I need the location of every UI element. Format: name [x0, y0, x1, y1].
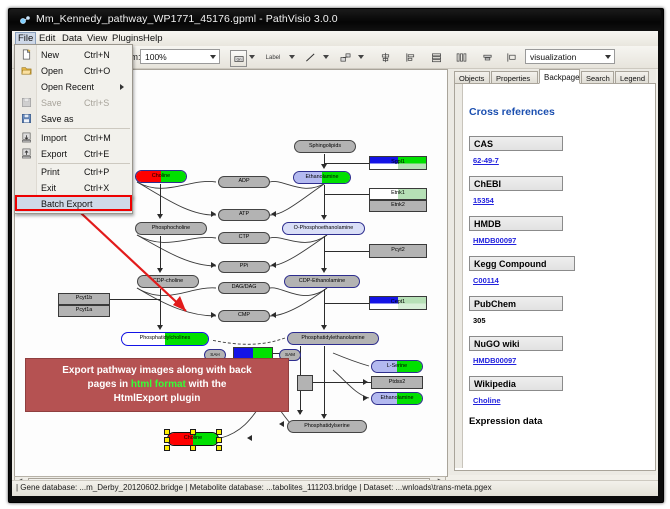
file-menu-save-label: Save	[41, 98, 62, 108]
arrowhead-left	[271, 211, 276, 217]
stack-button[interactable]	[480, 50, 495, 65]
node-o-phosphoethanolamine[interactable]: O-Phosphoethanolamine	[282, 222, 365, 235]
selection-handle-sw[interactable]	[164, 445, 170, 451]
align-center-icon	[380, 52, 391, 63]
edge-cdpetn-pethan	[324, 289, 325, 327]
status-bar: | Gene database: ...m_Derby_20120602.bri…	[12, 480, 658, 496]
arrowhead-down	[321, 215, 327, 220]
file-menu-export-label: Export	[41, 149, 67, 159]
node-cdp-ethanolamine[interactable]: CDP-Ethanolamine	[284, 275, 360, 288]
file-menu-new-accel: Ctrl+N	[84, 50, 110, 60]
arrowhead-right	[363, 379, 368, 385]
new-document-icon	[20, 49, 32, 61]
annotation-line1: Export pathway images along with back	[62, 365, 252, 376]
selection-handle-ne[interactable]	[216, 429, 222, 435]
svg-text:Gn: Gn	[236, 57, 241, 61]
chevron-down-icon	[210, 55, 216, 59]
node-pcyt2[interactable]: Pcyt2	[369, 244, 427, 258]
node-cept1[interactable]: Cept1	[369, 296, 427, 310]
arrowhead-left	[271, 312, 276, 318]
node-dag[interactable]: DAG/DAG	[218, 282, 270, 294]
selection-handle-w[interactable]	[164, 437, 170, 443]
file-menu-exit-label: Exit	[41, 183, 56, 193]
xref-value-cas[interactable]: 62-49-7	[473, 156, 499, 165]
selection-handle-e[interactable]	[216, 437, 222, 443]
backpage-content: Cross references CAS 62-49-7 ChEBI 15354…	[454, 83, 656, 471]
edge-etn-pe	[324, 185, 325, 218]
xref-value-hmdb[interactable]: HMDB00097	[473, 236, 516, 245]
file-menu-open-accel: Ctrl+O	[84, 66, 110, 76]
node-l-serine[interactable]: L-Serine	[371, 360, 423, 373]
annotation-text: Export pathway images along with back pa…	[56, 364, 258, 406]
arrowhead-down	[321, 325, 327, 330]
zoom-value: 100%	[145, 52, 167, 62]
arrowhead-right	[211, 262, 216, 268]
file-menu-import-accel: Ctrl+M	[84, 133, 111, 143]
menu-help[interactable]: Help	[140, 33, 166, 45]
file-menu-export-accel: Ctrl+E	[84, 149, 109, 159]
node-choline-top[interactable]: Choline	[135, 170, 187, 183]
annotation-line2c: with the	[186, 379, 227, 390]
datanode-tool-button[interactable]: Gn	[230, 50, 247, 67]
node-ctp[interactable]: CTP	[218, 232, 270, 244]
distribute-icon	[456, 52, 467, 63]
arrowhead-down	[321, 164, 327, 169]
label-tool-button[interactable]: Label	[260, 50, 286, 65]
file-menu-dropdown[interactable]: New Ctrl+N Open Ctrl+O Open Recent Save	[14, 44, 133, 198]
node-sphingolipids[interactable]: Sphingolipids	[294, 140, 356, 153]
line-icon	[305, 52, 316, 63]
pathvisio-icon	[19, 14, 31, 26]
batch-export-highlight-box	[15, 195, 132, 211]
file-menu-print[interactable]: Print Ctrl+P	[16, 164, 131, 180]
arrowhead-right	[211, 312, 216, 318]
arrowhead-down	[321, 268, 327, 273]
arrowhead-down	[297, 410, 303, 415]
align-left-button[interactable]	[403, 50, 418, 65]
file-menu-print-accel: Ctrl+P	[84, 167, 109, 177]
size-icon	[506, 52, 517, 63]
visualization-combo[interactable]: visualization	[525, 49, 615, 64]
stack-icon	[482, 52, 493, 63]
file-menu-open-label: Open	[41, 66, 63, 76]
title-bar: Mm_Kennedy_pathway_WP1771_45176.gpml - P…	[9, 9, 661, 31]
node-unnamed-enzyme[interactable]	[297, 375, 313, 391]
file-menu-open-recent[interactable]: Open Recent	[16, 79, 131, 95]
node-ppi[interactable]: PPi	[218, 261, 270, 273]
annotation-line3: HtmlExport plugin	[114, 393, 201, 404]
xref-header-cas: CAS	[469, 136, 563, 151]
node-etnk1[interactable]: Etnk1	[369, 188, 427, 200]
file-menu-export[interactable]: Export Ctrl+E	[16, 146, 131, 162]
edge-pe-cdpetn	[324, 236, 325, 270]
align-center-button[interactable]	[378, 50, 393, 65]
node-ptdss2[interactable]: Ptdss2	[371, 376, 423, 389]
file-menu-new-label: New	[41, 50, 59, 60]
xref-header-nugo: NuGO wiki	[469, 336, 563, 351]
file-menu-batch-export-container[interactable]: Batch Export	[14, 195, 133, 214]
genenode-icon: Gn	[234, 54, 244, 64]
file-menu-import-label: Import	[41, 133, 67, 143]
selection-handle-n[interactable]	[190, 429, 196, 435]
panel-tabstrip: Objects Properties Backpage Search Legen…	[454, 69, 656, 84]
file-menu-print-label: Print	[41, 167, 60, 177]
file-menu-open-recent-label: Open Recent	[41, 82, 94, 92]
arrowhead-right	[211, 211, 216, 217]
node-phosphatidylserine[interactable]: Phosphatidylserine	[287, 420, 367, 433]
submenu-arrow-icon	[120, 84, 124, 90]
import-icon	[20, 132, 32, 144]
edge-etnk	[324, 194, 369, 195]
line-dropdown-arrow[interactable]	[323, 55, 329, 59]
node-atp[interactable]: ATP	[218, 209, 270, 221]
node-phosphatidylethanolamine[interactable]: Phosphatidylethanolamine	[287, 332, 379, 345]
distribute-button[interactable]	[454, 50, 469, 65]
xref-value-pubchem: 305	[473, 316, 486, 325]
label-dropdown-arrow[interactable]	[289, 55, 295, 59]
red-pointer-arrow	[60, 195, 210, 330]
align-horizontal-icon	[431, 52, 442, 63]
xref-header-hmdb: HMDB	[469, 216, 563, 231]
edge-sgpl1	[324, 163, 369, 164]
annotation-line2a: pages in	[88, 379, 131, 390]
xref-header-chebi: ChEBI	[469, 176, 563, 191]
backpage-scroll-gutter[interactable]	[455, 84, 463, 468]
tab-backpage[interactable]: Backpage	[539, 69, 580, 84]
node-cmp[interactable]: CMP	[218, 310, 270, 322]
expression-data-heading: Expression data	[469, 416, 542, 427]
edge-pcyt2	[324, 251, 369, 252]
arrowhead-left	[279, 421, 284, 427]
side-panel: Objects Properties Backpage Search Legen…	[448, 69, 656, 475]
app-window: Mm_Kennedy_pathway_WP1771_45176.gpml - P…	[0, 0, 670, 509]
edge-ptdss2	[305, 382, 371, 383]
xref-header-pubchem: PubChem	[469, 296, 563, 311]
export-icon	[20, 148, 32, 160]
file-menu-exit-accel: Ctrl+X	[84, 183, 109, 193]
edge-cept1	[324, 303, 369, 304]
file-menu-exit[interactable]: Exit Ctrl+X	[16, 180, 131, 196]
datanode-dropdown-arrow[interactable]	[249, 55, 255, 59]
app-body: File Edit Data View Plugins Help Zoom: 1…	[12, 31, 658, 495]
file-menu-new[interactable]: New Ctrl+N	[16, 47, 131, 63]
xref-value-kegg[interactable]: C00114	[473, 276, 499, 285]
selection-handle-s[interactable]	[190, 445, 196, 451]
xref-value-nugo[interactable]: HMDB00097	[473, 356, 516, 365]
node-adp[interactable]: ADP	[218, 176, 270, 188]
selection-handle-nw[interactable]	[164, 429, 170, 435]
line-tool-button[interactable]	[303, 50, 318, 65]
arrowhead-right	[363, 395, 368, 401]
node-ethanolamine-bottom[interactable]: Ethanolamine	[371, 392, 423, 405]
size-button[interactable]	[504, 50, 519, 65]
file-menu-import[interactable]: Import Ctrl+M	[16, 130, 131, 146]
folder-open-icon	[20, 65, 32, 77]
file-menu-save-as[interactable]: Save as	[16, 111, 131, 127]
annotation-html-format: html format	[131, 379, 186, 390]
window-title: Mm_Kennedy_pathway_WP1771_45176.gpml - P…	[36, 13, 338, 25]
xref-value-wikipedia[interactable]: Choline	[473, 396, 501, 405]
align-left-icon	[405, 52, 416, 63]
save-as-icon	[20, 113, 32, 125]
label-tool-text: Label	[266, 55, 281, 61]
arrowhead-left	[247, 435, 252, 441]
chevron-down-icon	[605, 55, 611, 59]
visualization-value: visualization	[530, 52, 576, 62]
xref-header-wikipedia: Wikipedia	[469, 376, 563, 391]
file-menu-save-as-label: Save as	[41, 114, 74, 124]
arrowhead-left	[271, 262, 276, 268]
shape-tool-button[interactable]	[338, 50, 353, 65]
xref-value-chebi[interactable]: 15354	[473, 196, 494, 205]
status-text: | Gene database: ...m_Derby_20120602.bri…	[16, 483, 492, 492]
node-sgpl1[interactable]: Sgpl1	[369, 156, 427, 170]
file-menu-save-accel: Ctrl+S	[84, 98, 109, 108]
save-icon	[20, 97, 32, 109]
shape-dropdown-arrow[interactable]	[358, 55, 364, 59]
node-etnk2[interactable]: Etnk2	[369, 200, 427, 212]
node-ethanolamine-top[interactable]: Ethanolamine	[293, 171, 351, 184]
align-horizontal-button[interactable]	[429, 50, 444, 65]
file-menu-separator-1	[38, 128, 130, 129]
node-phosphatidylcholines[interactable]: Phosphatidylcholines	[121, 332, 209, 346]
file-menu-save: Save Ctrl+S	[16, 95, 131, 111]
annotation-banner: Export pathway images along with back pa…	[25, 358, 289, 412]
arrowhead-down	[321, 414, 327, 419]
zoom-combo[interactable]: 100%	[140, 49, 220, 64]
backpage-inner: Cross references CAS 62-49-7 ChEBI 15354…	[465, 84, 651, 470]
xref-header-kegg: Kegg Compound	[469, 256, 575, 271]
file-menu-open[interactable]: Open Ctrl+O	[16, 63, 131, 79]
shape-icon	[340, 52, 351, 63]
selection-handle-se[interactable]	[216, 445, 222, 451]
cross-references-title: Cross references	[469, 106, 555, 118]
